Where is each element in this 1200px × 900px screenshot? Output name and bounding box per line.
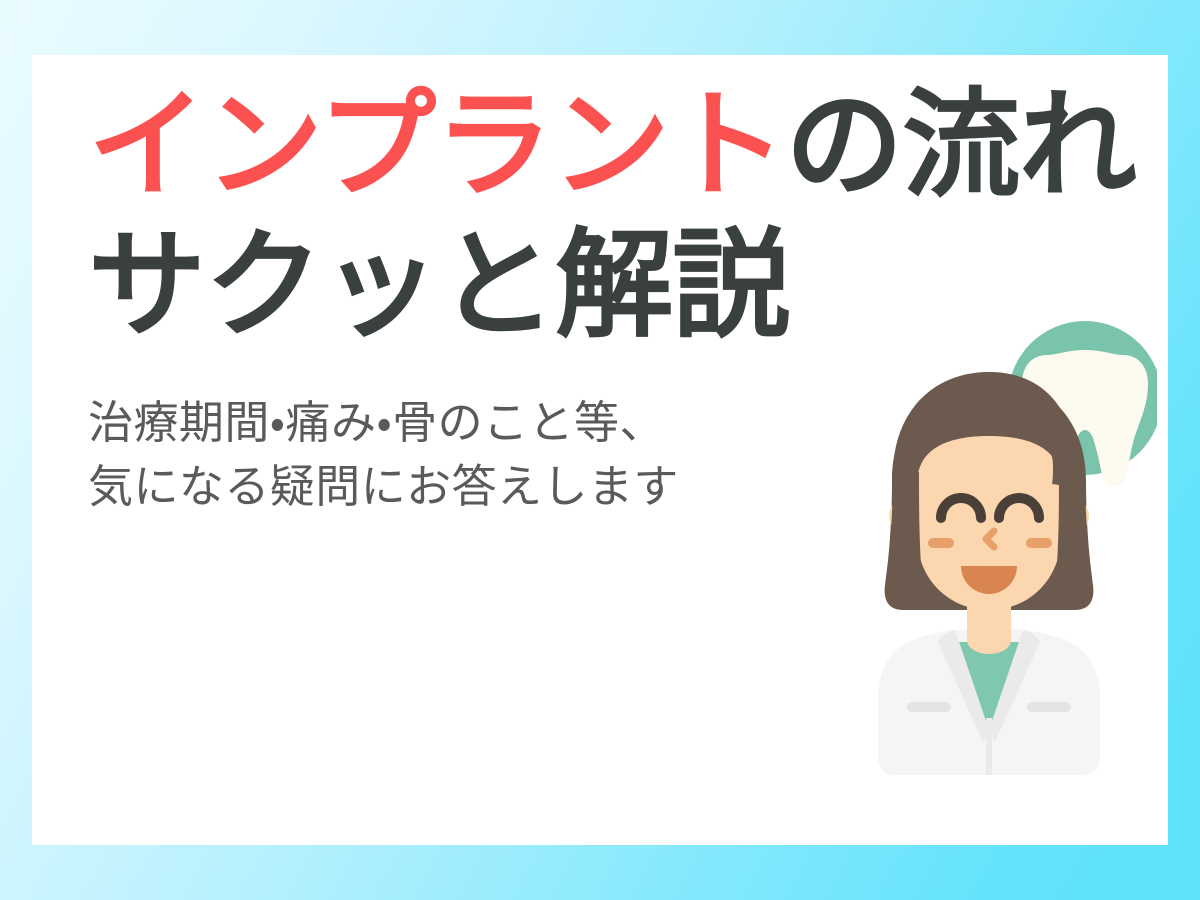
dentist-illustration xyxy=(827,310,1157,775)
headline-highlight-text: インプラント xyxy=(88,80,785,212)
blush-right xyxy=(1026,538,1052,548)
headline-line-1: インプラントの流れ xyxy=(88,87,878,205)
coat-pocket-right xyxy=(1027,702,1071,712)
banner-canvas: インプラントの流れ サクッと解説 治療期間・痛み・骨のこと等、 気になる疑問にお… xyxy=(0,0,1200,900)
blush-left xyxy=(928,538,954,548)
subtitle: 治療期間・痛み・骨のこと等、 気になる疑問にお答えします xyxy=(88,391,878,519)
subtitle-line-1: 治療期間・痛み・骨のこと等、 xyxy=(88,391,878,455)
subtitle-line-2: 気になる疑問にお答えします xyxy=(88,455,878,519)
headline-line-2: サクッと解説 xyxy=(88,227,878,345)
headline-rest-text: の流れ xyxy=(785,80,1135,212)
coat-seam xyxy=(986,718,992,775)
coat-pocket-left xyxy=(907,702,951,712)
white-content-card: インプラントの流れ サクッと解説 治療期間・痛み・骨のこと等、 気になる疑問にお… xyxy=(32,55,1168,845)
text-block: インプラントの流れ サクッと解説 治療期間・痛み・骨のこと等、 気になる疑問にお… xyxy=(88,75,878,519)
